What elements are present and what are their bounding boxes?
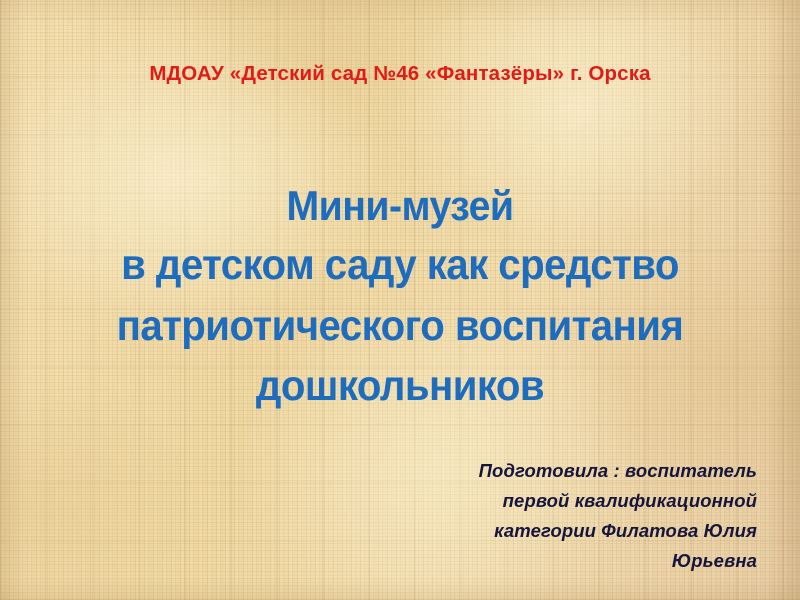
author-credit: Подготовила : воспитатель первой квалифи… xyxy=(427,456,757,576)
organization-header: МДОАУ «Детский сад №46 «Фантазёры» г. Ор… xyxy=(0,62,800,86)
presentation-slide: МДОАУ «Детский сад №46 «Фантазёры» г. Ор… xyxy=(0,0,800,600)
credit-line-1: Подготовила : воспитатель xyxy=(427,456,757,486)
title-line-4: дошкольников xyxy=(26,356,774,416)
title-line-1: Мини-музей xyxy=(26,178,774,234)
credit-line-4: Юрьевна xyxy=(427,546,757,576)
slide-title: Мини-музей в детском саду как средство п… xyxy=(0,178,800,416)
credit-line-2: первой квалификационной xyxy=(427,486,757,516)
credit-line-3: категории Филатова Юлия xyxy=(427,516,757,546)
title-line-2: в детском саду как средство xyxy=(26,234,774,296)
title-line-3: патриотического воспитания xyxy=(26,296,774,356)
